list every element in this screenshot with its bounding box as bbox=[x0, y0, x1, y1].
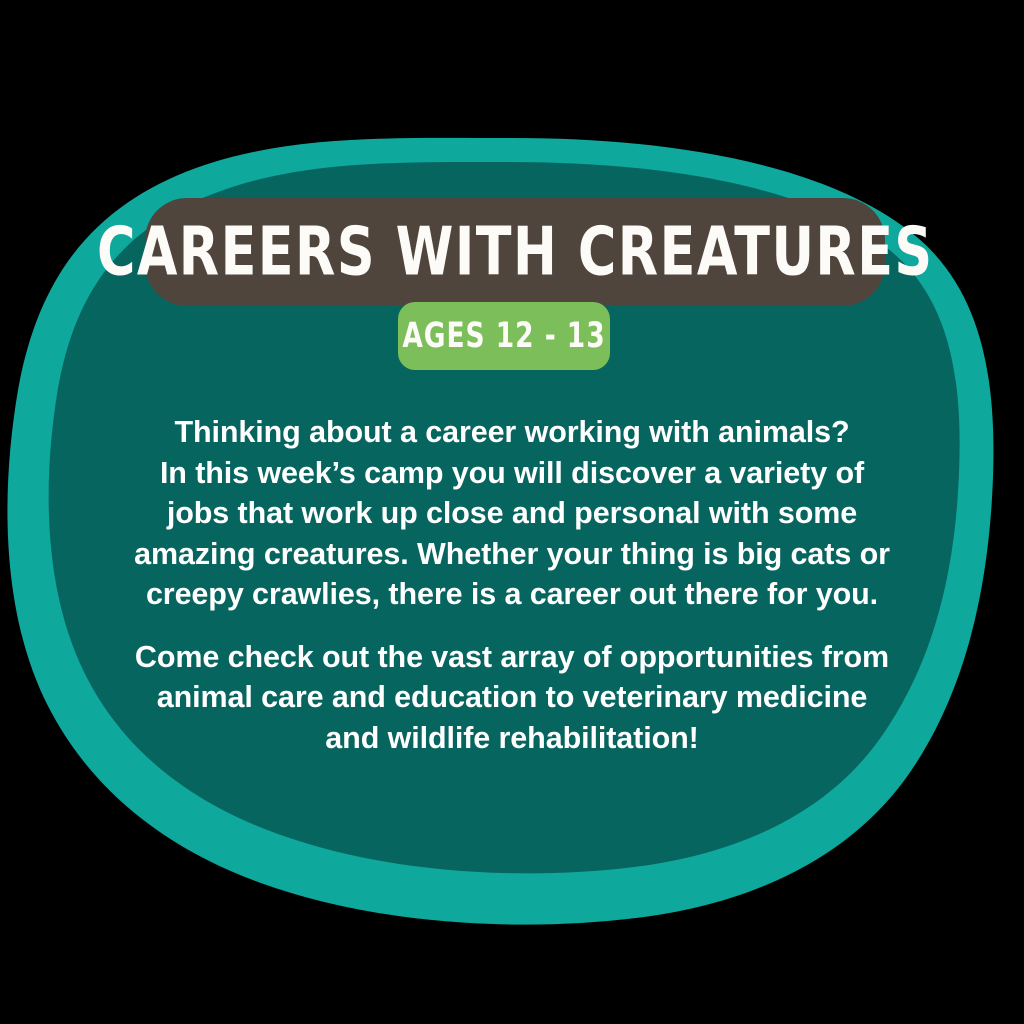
description-paragraph-1: Thinking about a career working with ani… bbox=[62, 412, 962, 615]
title-bar: CAREERS WITH CREATURES bbox=[145, 198, 885, 306]
description-paragraph-2: Come check out the vast array of opportu… bbox=[62, 637, 962, 759]
camp-program-card: CAREERS WITH CREATURES AGES 12 - 13 Thin… bbox=[0, 0, 1024, 1024]
age-range-label: AGES 12 - 13 bbox=[402, 319, 605, 354]
age-range-badge: AGES 12 - 13 bbox=[398, 302, 610, 370]
description-block: Thinking about a career working with ani… bbox=[62, 412, 962, 758]
page-title: CAREERS WITH CREATURES bbox=[97, 218, 934, 285]
